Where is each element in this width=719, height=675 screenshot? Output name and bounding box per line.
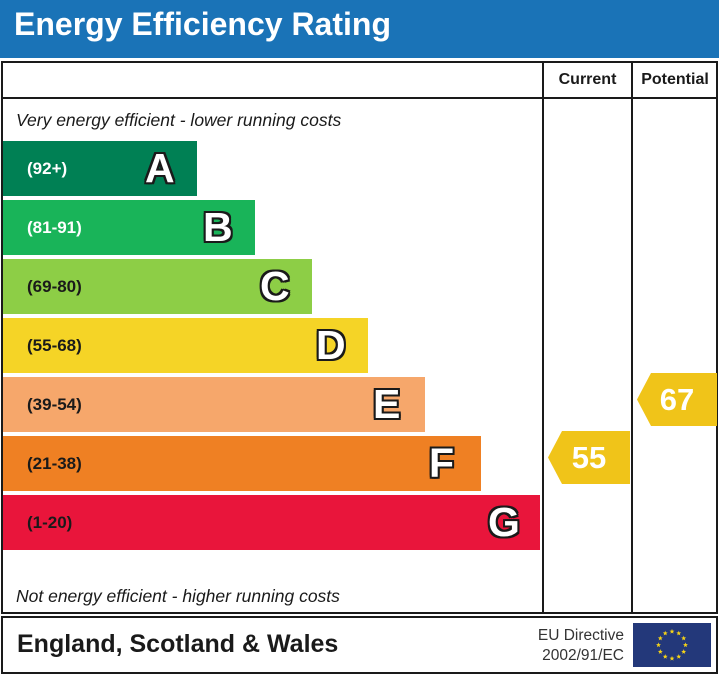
potential-rating-arrow: 67 [637, 373, 717, 426]
band-range-a: (92+) [27, 141, 67, 196]
band-row-c: (69-80) C [3, 259, 541, 314]
eu-flag-icon [633, 623, 711, 667]
column-header-potential: Potential [632, 63, 718, 97]
caption-efficient: Very energy efficient - lower running co… [16, 110, 341, 131]
column-divider-1 [542, 63, 544, 612]
band-letter-b: B [203, 200, 233, 255]
band-row-d: (55-68) D [3, 318, 541, 373]
band-bar-g [3, 495, 540, 550]
band-list: (92+) A (81-91) B (69-80) C (55-68) D [3, 141, 541, 554]
energy-efficiency-rating-chart: Energy Efficiency Rating Current Potenti… [0, 0, 719, 675]
column-header-current: Current [543, 63, 632, 97]
caption-inefficient: Not energy efficient - higher running co… [16, 586, 340, 607]
band-row-f: (21-38) F [3, 436, 541, 491]
band-range-f: (21-38) [27, 436, 82, 491]
band-range-d: (55-68) [27, 318, 82, 373]
band-letter-d: D [316, 318, 346, 373]
band-row-e: (39-54) E [3, 377, 541, 432]
band-range-b: (81-91) [27, 200, 82, 255]
band-letter-e: E [373, 377, 400, 432]
page-title: Energy Efficiency Rating [14, 6, 391, 43]
band-range-g: (1-20) [27, 495, 72, 550]
band-letter-c: C [260, 259, 290, 314]
band-row-b: (81-91) B [3, 200, 541, 255]
band-range-e: (39-54) [27, 377, 82, 432]
column-divider-2 [631, 63, 633, 612]
band-letter-g: G [488, 495, 520, 550]
band-row-g: (1-20) G [3, 495, 541, 550]
band-letter-f: F [429, 436, 454, 491]
eu-directive-text: EU Directive 2002/91/EC [538, 626, 624, 666]
chart-title-bar: Energy Efficiency Rating [0, 0, 719, 58]
eu-directive-line-2: 2002/91/EC [538, 646, 624, 666]
band-letter-a: A [145, 141, 175, 196]
band-row-a: (92+) A [3, 141, 541, 196]
column-header-row: Current Potential [3, 63, 716, 99]
footer-bar: England, Scotland & Wales EU Directive 2… [1, 616, 718, 674]
footer-region-label: England, Scotland & Wales [17, 630, 338, 659]
rating-table: Current Potential Very energy efficient … [1, 61, 718, 614]
current-rating-arrow: 55 [548, 431, 630, 484]
band-range-c: (69-80) [27, 259, 82, 314]
eu-directive-line-1: EU Directive [538, 626, 624, 646]
band-chart-area: Very energy efficient - lower running co… [3, 99, 541, 612]
